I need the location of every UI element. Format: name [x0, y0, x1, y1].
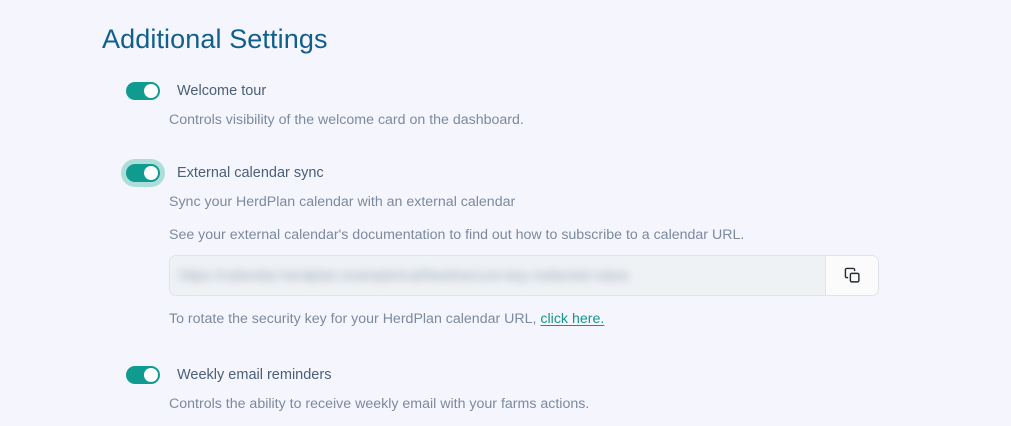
calendar-url-input[interactable]: https://calendar.herdplan.example/ical/f… — [170, 256, 826, 295]
setting-row-welcome-tour: Welcome tour Controls visibility of the … — [126, 78, 916, 130]
setting-label-welcome-tour: Welcome tour — [177, 81, 266, 101]
setting-row-weekly-email-reminders: Weekly email reminders Controls the abil… — [126, 362, 916, 414]
toggle-weekly-email-reminders[interactable] — [126, 366, 160, 384]
toggle-welcome-tour[interactable] — [126, 82, 160, 100]
toggle-knob — [144, 166, 158, 180]
setting-description-welcome-tour: Controls visibility of the welcome card … — [169, 110, 916, 130]
setting-header: Welcome tour — [126, 78, 916, 104]
setting-label-external-calendar-sync: External calendar sync — [177, 163, 324, 183]
toggle-wrap-weekly-email-reminders — [126, 366, 160, 384]
setting-description-weekly-email-reminders: Controls the ability to receive weekly e… — [169, 394, 916, 414]
toggle-external-calendar-sync[interactable] — [126, 164, 160, 182]
setting-note-calendar-url: See your external calendar's documentati… — [169, 225, 916, 245]
toggle-wrap-welcome-tour — [126, 82, 160, 100]
copy-url-button[interactable] — [826, 256, 878, 295]
setting-label-weekly-email-reminders: Weekly email reminders — [177, 365, 331, 385]
setting-header: External calendar sync — [126, 160, 916, 186]
page-title: Additional Settings — [102, 22, 328, 56]
toggle-knob — [144, 84, 158, 98]
rotate-security-key-line: To rotate the security key for your Herd… — [169, 309, 916, 329]
settings-list: Welcome tour Controls visibility of the … — [126, 78, 916, 414]
additional-settings-page: Additional Settings Welcome tour Control… — [0, 0, 1011, 426]
copy-icon — [844, 267, 861, 284]
spacer — [126, 130, 916, 160]
spacer — [126, 329, 916, 362]
setting-header: Weekly email reminders — [126, 362, 916, 388]
setting-row-external-calendar-sync: External calendar sync Sync your HerdPla… — [126, 160, 916, 329]
rotate-security-key-text: To rotate the security key for your Herd… — [169, 311, 536, 327]
rotate-security-key-link[interactable]: click here. — [540, 311, 604, 327]
calendar-url-row: https://calendar.herdplan.example/ical/f… — [169, 255, 879, 296]
toggle-knob — [144, 368, 158, 382]
setting-description-external-calendar-sync: Sync your HerdPlan calendar with an exte… — [169, 192, 916, 212]
toggle-wrap-external-calendar-sync — [126, 164, 160, 182]
calendar-url-value-redacted: https://calendar.herdplan.example/ical/f… — [179, 265, 819, 286]
